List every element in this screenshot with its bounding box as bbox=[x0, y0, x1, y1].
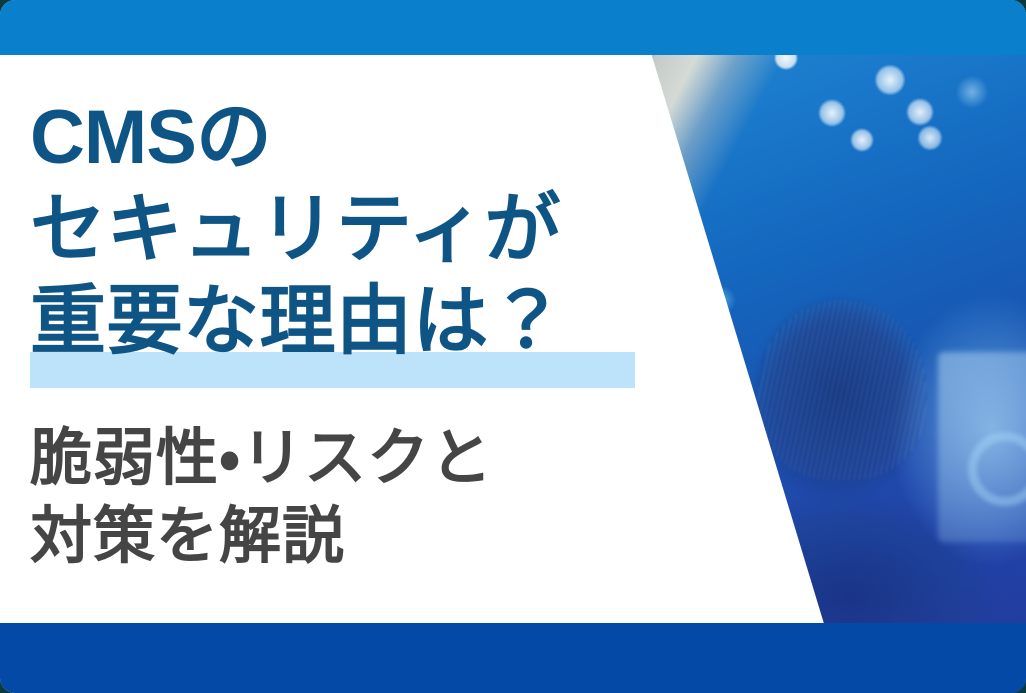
subtitle-line-1: 脆弱性・リスクと bbox=[30, 420, 630, 498]
photo-person-head bbox=[758, 300, 926, 480]
top-accent-bar bbox=[0, 0, 1026, 55]
subtitle-line-2: 対策を解説 bbox=[30, 498, 630, 576]
title-line-3: 重要な理由は？ bbox=[30, 276, 566, 368]
hero-photo bbox=[600, 0, 1026, 693]
title-line-1: CMSの bbox=[30, 92, 650, 184]
bottom-accent-bar bbox=[0, 623, 1026, 693]
article-thumbnail-card: CMSの セキュリティが 重要な理由は？ 脆弱性・リスクと 対策を解説 bbox=[0, 0, 1026, 693]
page-title: CMSの セキュリティが 重要な理由は？ bbox=[30, 92, 650, 368]
title-line-2: セキュリティが bbox=[30, 184, 650, 276]
page-subtitle: 脆弱性・リスクと 対策を解説 bbox=[30, 420, 630, 576]
text-column: CMSの セキュリティが 重要な理由は？ 脆弱性・リスクと 対策を解説 bbox=[0, 0, 660, 693]
title-line-3-text: 重要な理由は？ bbox=[30, 279, 566, 364]
